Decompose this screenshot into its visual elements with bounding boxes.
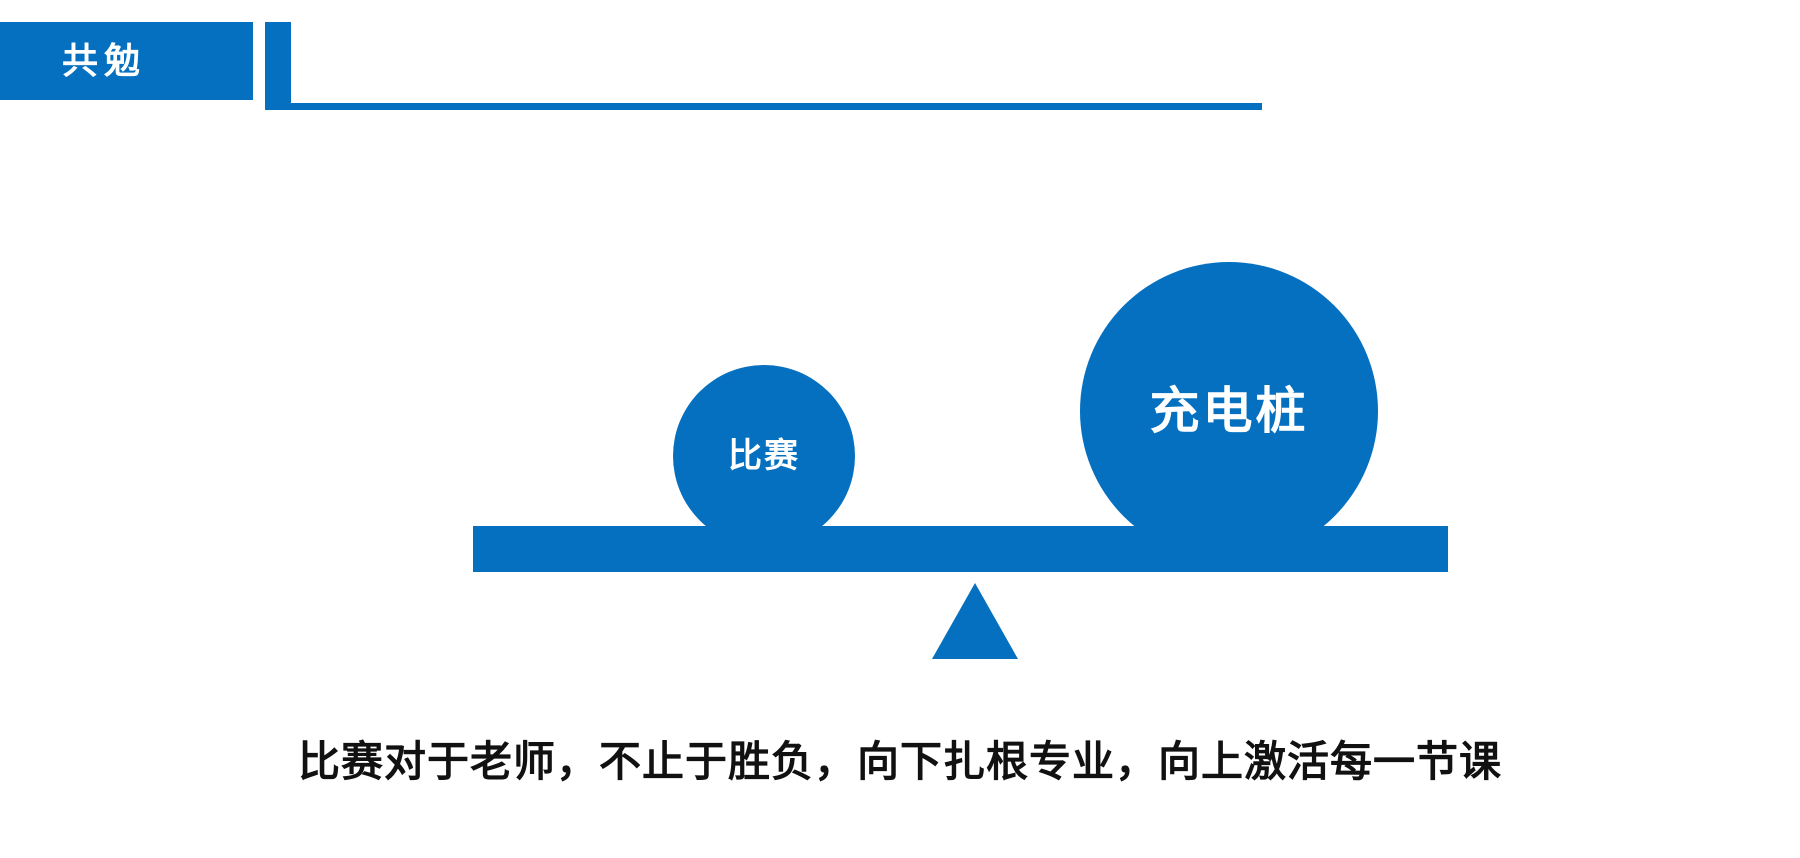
- balance-node-right-label: 充电桩: [1150, 386, 1309, 436]
- balance-node-right: 充电桩: [1080, 262, 1378, 560]
- balance-node-left-label: 比赛: [728, 439, 800, 473]
- caption-text: 比赛对于老师，不止于胜负，向下扎根专业，向上激活每一节课: [0, 728, 1800, 789]
- slide-canvas: 共勉 比赛 充电桩 比赛对于老师，不止于胜负，向下扎根专业，向上激活每一节课: [0, 0, 1800, 858]
- balance-node-left: 比赛: [673, 365, 855, 547]
- triangle-fulcrum-icon: [932, 583, 1018, 659]
